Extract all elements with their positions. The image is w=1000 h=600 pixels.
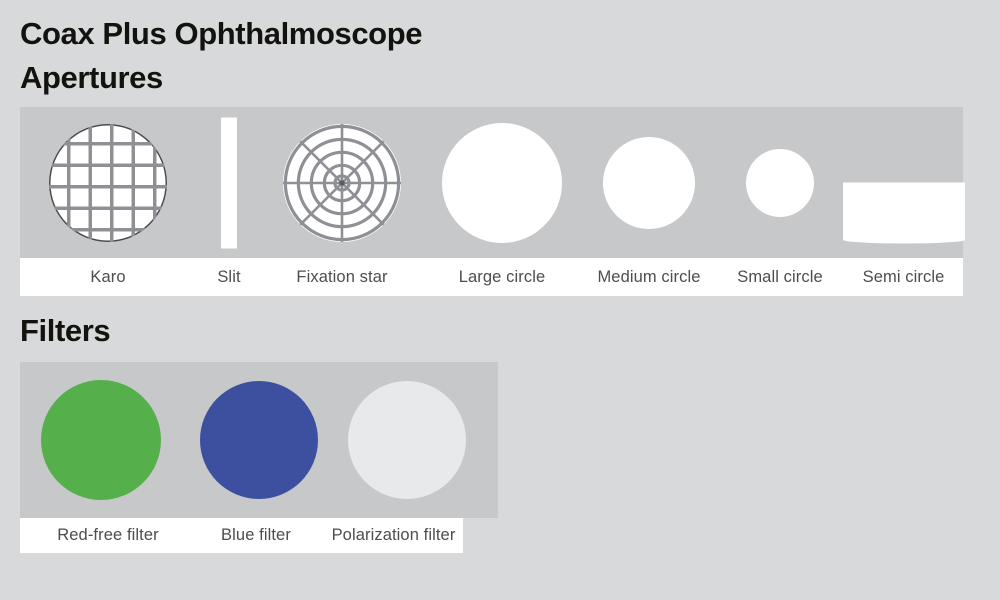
apertures-label-strip: KaroSlitFixation starLarge circleMedium … bbox=[20, 258, 963, 296]
aperture-swatch-medium-circle[interactable] bbox=[582, 107, 716, 258]
aperture-swatch-semi-circle[interactable] bbox=[844, 107, 963, 258]
grid-circle-icon bbox=[49, 124, 167, 242]
aperture-swatch-small-circle[interactable] bbox=[716, 107, 844, 258]
polarization-filter-icon[interactable] bbox=[348, 381, 466, 499]
aperture-label-semi-circle: Semi circle bbox=[844, 258, 963, 296]
filter-swatch-row bbox=[20, 362, 498, 518]
fixation-star-icon bbox=[282, 123, 402, 243]
filter-label-red-free-filter: Red-free filter bbox=[28, 518, 188, 553]
filter-label-polarization-filter: Polarization filter bbox=[324, 518, 463, 553]
aperture-swatch-karo[interactable] bbox=[20, 107, 196, 258]
aperture-label-small-circle: Small circle bbox=[716, 258, 844, 296]
large-circle-icon bbox=[442, 123, 562, 243]
medium-circle-icon bbox=[603, 137, 695, 229]
aperture-label-fixation-star: Fixation star bbox=[262, 258, 422, 296]
blue-filter-icon[interactable] bbox=[200, 381, 318, 499]
aperture-swatch-large-circle[interactable] bbox=[422, 107, 582, 258]
aperture-label-slit: Slit bbox=[196, 258, 262, 296]
karo-grid-lines bbox=[49, 124, 167, 242]
aperture-swatch-row bbox=[20, 107, 963, 258]
aperture-label-large-circle: Large circle bbox=[422, 258, 582, 296]
page-title: Coax Plus Ophthalmoscope Apertures bbox=[20, 12, 720, 101]
green-filter-icon[interactable] bbox=[41, 380, 161, 500]
aperture-swatch-fixation-star[interactable] bbox=[262, 107, 422, 258]
aperture-label-karo: Karo bbox=[20, 258, 196, 296]
filters-section-heading: Filters bbox=[20, 312, 110, 350]
filter-label-blue-filter: Blue filter bbox=[188, 518, 324, 553]
filters-label-strip: Red-free filterBlue filterPolarization f… bbox=[20, 518, 463, 553]
semi-circle-icon bbox=[843, 183, 965, 244]
aperture-label-medium-circle: Medium circle bbox=[582, 258, 716, 296]
aperture-swatch-slit[interactable] bbox=[196, 107, 262, 258]
small-circle-icon bbox=[746, 149, 814, 217]
apertures-panel bbox=[20, 107, 963, 258]
vertical-slit-icon bbox=[221, 117, 237, 248]
filters-panel bbox=[20, 362, 498, 518]
